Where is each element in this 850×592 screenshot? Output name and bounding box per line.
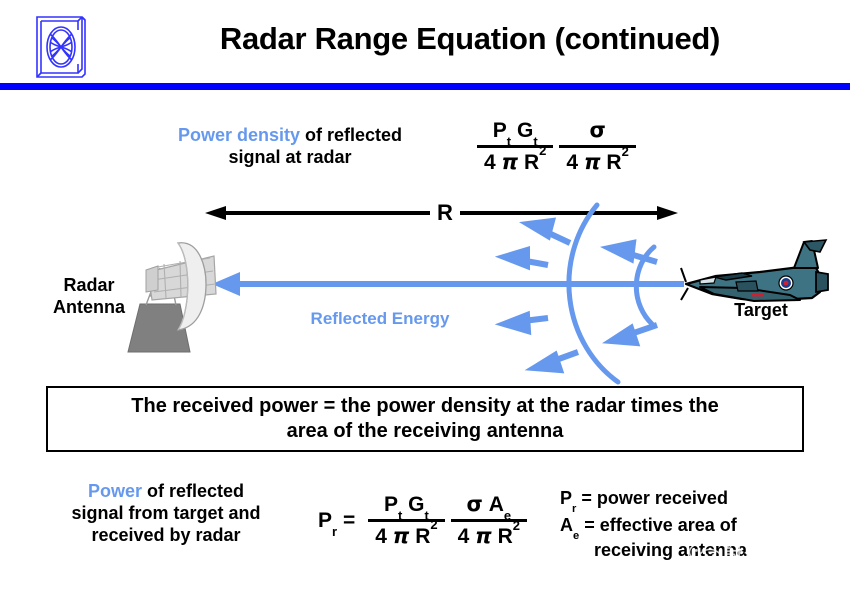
symbol-g-subscript: t	[425, 508, 429, 523]
denominator-four: 4	[458, 525, 470, 548]
slide-canvas: Radar Range Equation (continued)	[0, 0, 850, 592]
power-density-rest: of reflected	[300, 125, 402, 145]
reflected-arrow-1	[528, 221, 570, 243]
symbol-r-exponent: 2	[539, 143, 546, 158]
fraction-numerator: Pt Gt	[486, 119, 545, 145]
symbol-r-exponent: 2	[513, 518, 520, 533]
reflected-beam-arrow	[212, 272, 684, 296]
symbol-p: P	[318, 509, 332, 532]
reflected-arrow-4	[504, 315, 548, 331]
title-divider-rule	[0, 83, 850, 90]
symbol-r: R	[415, 525, 430, 548]
symbol-p: P	[384, 493, 398, 516]
denominator-four: 4	[484, 151, 496, 174]
symbol-p: P	[560, 488, 572, 508]
symbol-p-subscript: r	[332, 524, 337, 539]
reflected-arrow-2	[609, 243, 657, 262]
symbol-p: P	[493, 119, 507, 142]
power-density-formula: Pt Gt 4 π R2 σ 4 π R2	[474, 118, 639, 175]
page-title: Radar Range Equation (continued)	[110, 20, 830, 58]
symbol-pi: π	[475, 524, 492, 548]
watermark: 射频学堂	[688, 534, 843, 576]
symbol-r: R	[524, 151, 539, 174]
symbol-r: R	[498, 525, 513, 548]
symbol-g: G	[408, 493, 424, 516]
statement-line1: The received power = the power density a…	[131, 395, 718, 417]
statement-box: The received power = the power density a…	[46, 386, 804, 452]
received-power-formula: Pr = Pt Gt 4 π R2 σ Ae 4 π R2	[318, 492, 530, 549]
target-aircraft-graphic	[681, 240, 828, 301]
fraction-numerator: σ	[582, 118, 612, 145]
fraction-denominator: 4 π R2	[451, 519, 527, 549]
fraction-sigma-ae: σ Ae 4 π R2	[451, 492, 527, 549]
symbol-r-exponent: 2	[430, 517, 437, 532]
symbol-pi: π	[393, 524, 410, 548]
legend-row-pr: Pr = power received	[560, 487, 850, 510]
statement-text: The received power = the power density a…	[123, 394, 726, 444]
power-highlight: Power	[88, 481, 142, 501]
fraction-denominator: 4 π R2	[368, 519, 444, 549]
symbol-g: G	[517, 119, 533, 142]
equals-sign: =	[343, 509, 355, 532]
symbol-r: R	[606, 151, 621, 174]
range-label: R	[430, 200, 460, 227]
fraction-denominator: 4 π R2	[477, 145, 553, 175]
radar-antenna-label: Radar Antenna	[30, 275, 148, 319]
symbol-p-subscript: t	[398, 508, 402, 523]
reflected-energy-label: Reflected Energy	[282, 309, 478, 330]
power-line3: received by radar	[91, 525, 240, 545]
power-density-label: Power density of reflected signal at rad…	[130, 125, 450, 169]
target-label: Target	[700, 300, 822, 322]
fraction-numerator: σ Ae	[460, 492, 519, 519]
radar-antenna-label-line2: Antenna	[53, 297, 125, 317]
symbol-sigma: σ	[467, 492, 483, 516]
fraction-sigma: σ 4 π R2	[559, 118, 635, 175]
symbol-a: A	[560, 515, 573, 535]
wechat-icon	[688, 541, 722, 569]
symbol-sigma: σ	[589, 118, 605, 142]
radar-antenna-label-line1: Radar	[63, 275, 114, 295]
fraction-pt-gt: Pt Gt 4 π R2	[477, 119, 553, 175]
fraction-numerator: Pt Gt	[377, 493, 436, 519]
power-density-highlight: Power density	[178, 125, 300, 145]
logo-icon	[32, 12, 90, 80]
power-line2: signal from target and	[71, 503, 260, 523]
symbol-r-exponent: 2	[622, 144, 629, 159]
watermark-text: 射频学堂	[722, 540, 810, 570]
institution-logo	[32, 12, 90, 80]
legend-row-pr-text: = power received	[576, 488, 728, 508]
symbol-a: A	[489, 493, 504, 516]
wavefront-arcs	[569, 205, 654, 382]
symbol-pi: π	[584, 150, 601, 174]
symbol-p-subscript: t	[507, 134, 511, 149]
symbol-a-subscript: e	[573, 530, 579, 542]
reflected-arrow-6	[534, 352, 578, 370]
legend-row-ae-text: = effective area of	[579, 515, 737, 535]
symbol-p-subscript: r	[572, 503, 576, 515]
fraction-pt-gt: Pt Gt 4 π R2	[368, 493, 444, 549]
denominator-four: 4	[566, 151, 578, 174]
reflected-arrow-5	[611, 325, 657, 343]
symbol-g-subscript: t	[533, 134, 537, 149]
symbol-pi: π	[502, 150, 519, 174]
power-of-reflected-signal-label: Power of reflected signal from target an…	[28, 481, 304, 547]
reflected-energy-arrows	[504, 221, 657, 370]
fraction-denominator: 4 π R2	[559, 145, 635, 175]
symbol-a-subscript: e	[504, 508, 511, 523]
statement-line2: area of the receiving antenna	[287, 420, 564, 442]
power-density-line2: signal at radar	[228, 147, 351, 167]
formula-lead: Pr =	[318, 509, 355, 533]
denominator-four: 4	[375, 525, 387, 548]
power-rest: of reflected	[142, 481, 244, 501]
reflected-arrow-3	[504, 250, 548, 266]
